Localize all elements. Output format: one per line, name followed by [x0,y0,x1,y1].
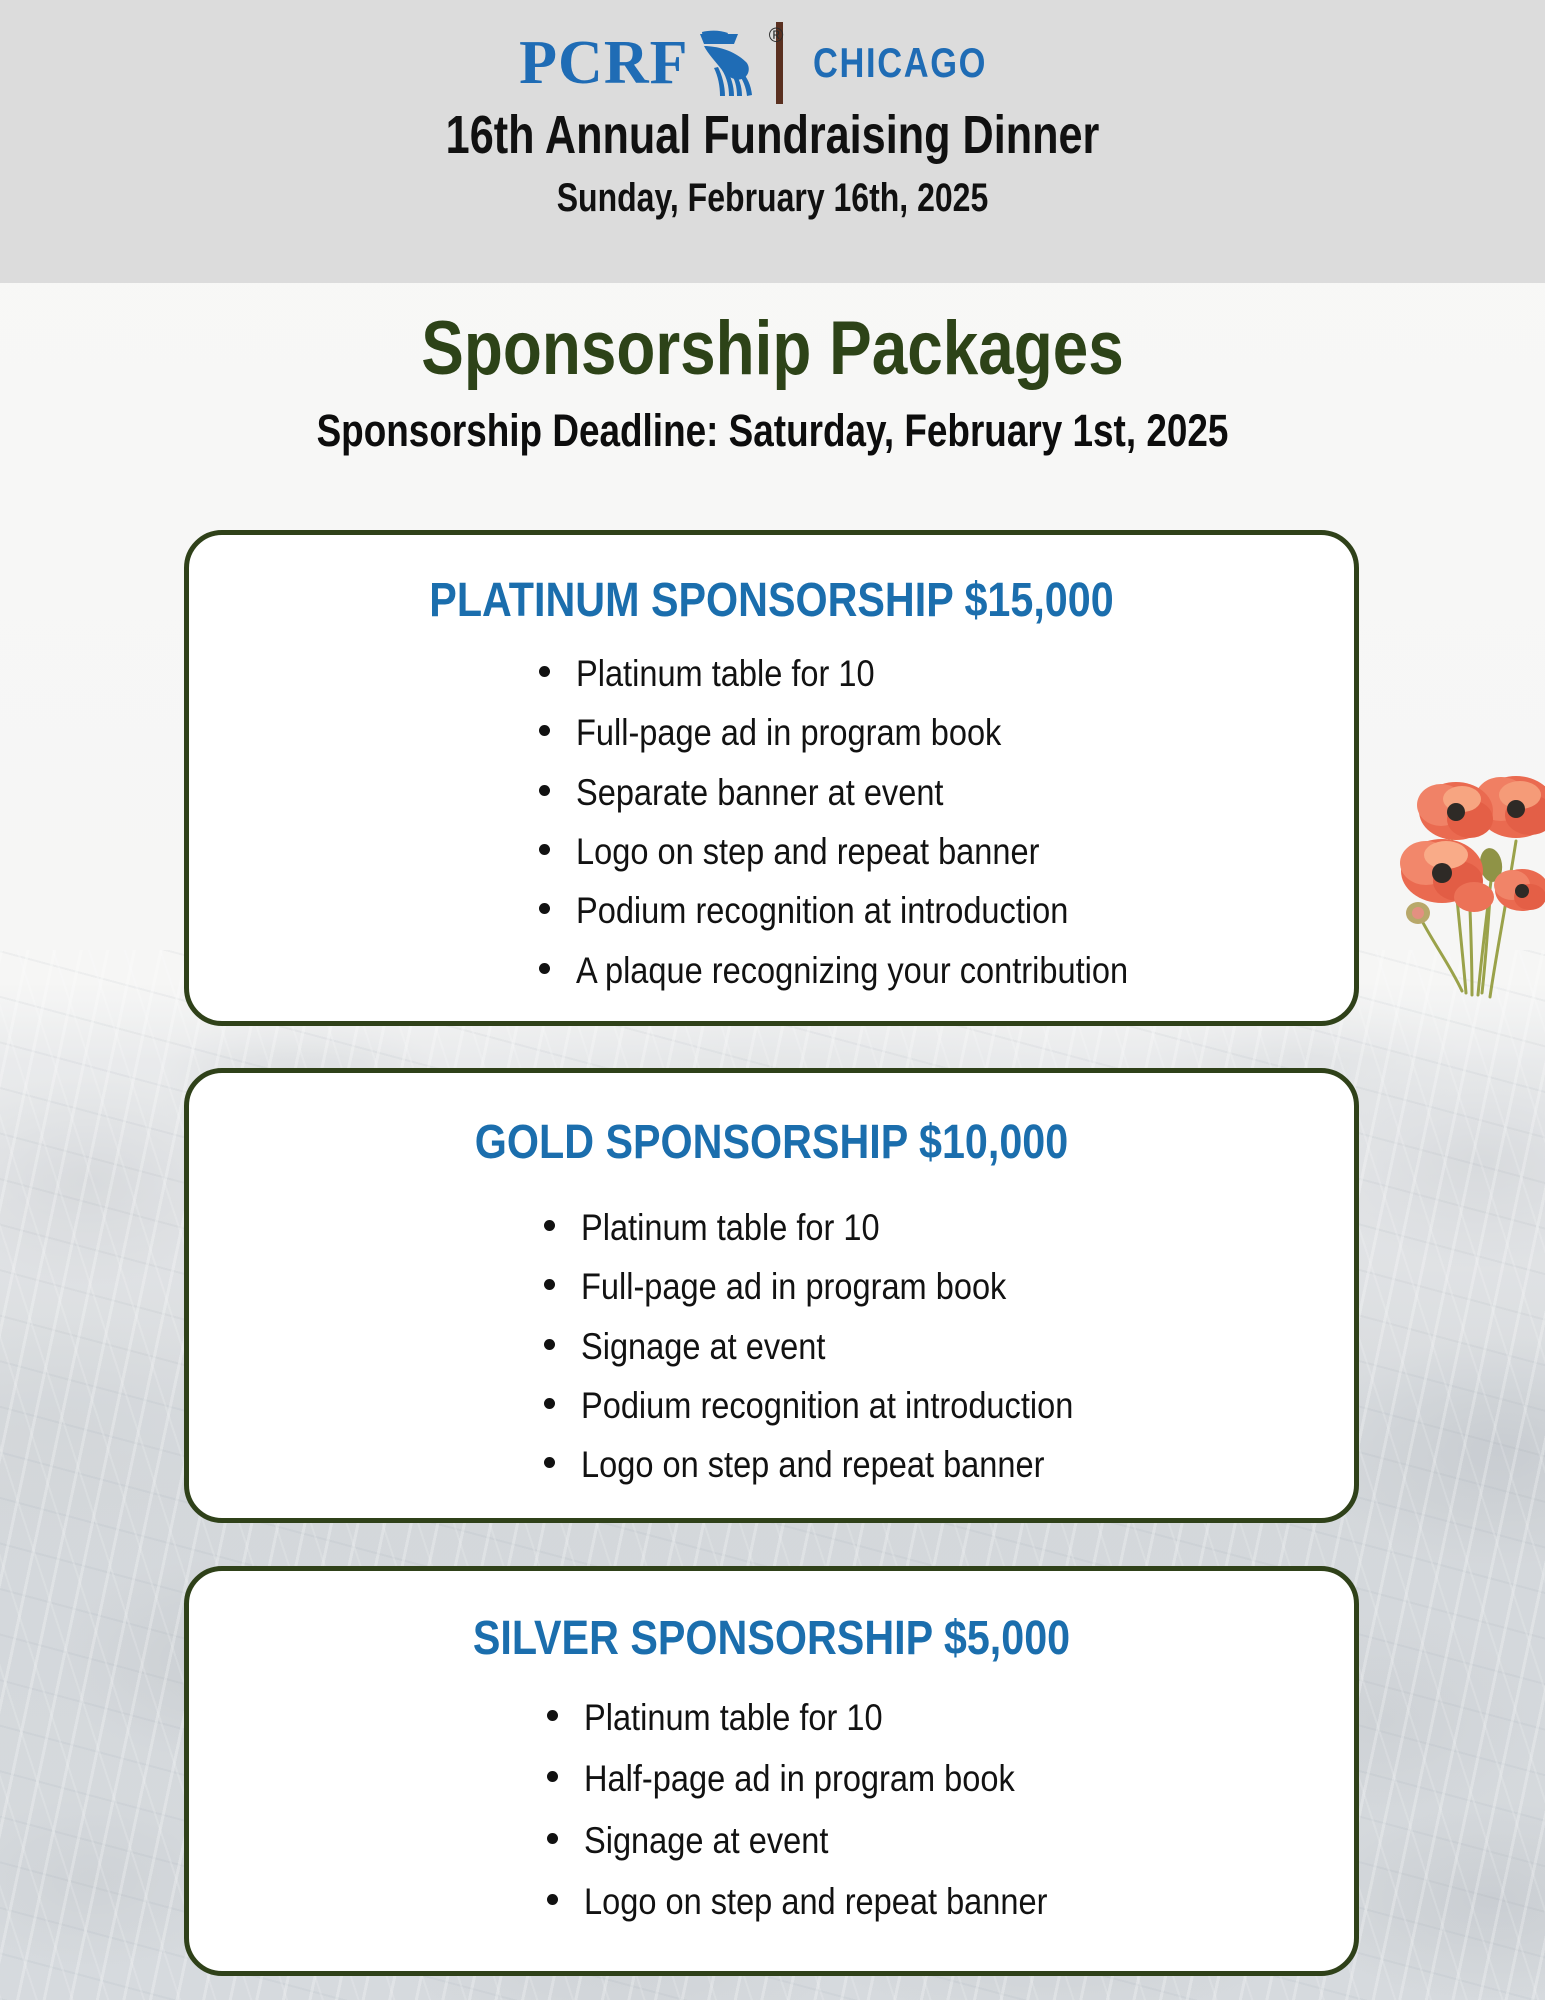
bullet-icon [547,1771,558,1782]
silver-benefits-list: Platinum table for 10 Half-page ad in pr… [189,1694,1354,1925]
bullet-icon [547,1894,558,1905]
list-item: Signage at event [547,1817,1354,1864]
list-item: Platinum table for 10 [544,1204,1354,1251]
platinum-sponsorship-card: PLATINUM SPONSORSHIP $15,000 Platinum ta… [184,530,1359,1026]
silver-card-heading: SILVER SPONSORSHIP $5,000 [271,1611,1273,1666]
bullet-icon [544,1457,555,1468]
list-item: A plaque recognizing your contribution [539,947,1354,994]
list-item: Signage at event [544,1323,1354,1370]
bullet-icon [539,666,550,677]
event-date: Sunday, February 16th, 2025 [155,176,1391,221]
benefit-text: Podium recognition at introduction [576,887,1068,934]
list-item: Half-page ad in program book [547,1755,1354,1802]
list-item: Logo on step and repeat banner [547,1878,1354,1925]
pcrf-hand-dove-icon [694,28,760,98]
benefit-text: Half-page ad in program book [584,1755,1015,1802]
benefit-text: Signage at event [584,1817,828,1864]
benefit-text: Platinum table for 10 [584,1694,883,1741]
bullet-icon [544,1339,555,1350]
sponsorship-poster: PCRF ® CHICAGO 16th Annual Fundraising D… [0,0,1545,2000]
benefit-text: Full-page ad in program book [581,1263,1006,1310]
platinum-benefits-list: Platinum table for 10 Full-page ad in pr… [189,650,1354,994]
header-band: PCRF ® CHICAGO 16th Annual Fundraising D… [0,0,1545,283]
benefit-text: A plaque recognizing your contribution [576,947,1128,994]
benefit-text: Podium recognition at introduction [581,1382,1073,1429]
list-item: Full-page ad in program book [544,1263,1354,1310]
registered-trademark-icon: ® [769,26,785,46]
gold-benefits-list: Platinum table for 10 Full-page ad in pr… [189,1204,1354,1489]
benefit-text: Logo on step and repeat banner [576,828,1039,875]
list-item: Logo on step and repeat banner [544,1441,1354,1488]
chicago-chapter-label: CHICAGO [813,39,987,87]
list-item: Platinum table for 10 [539,650,1354,697]
benefit-text: Platinum table for 10 [581,1204,880,1251]
bullet-icon [539,903,550,914]
pcrf-wordmark-text: PCRF [519,29,688,97]
list-item: Logo on step and repeat banner [539,828,1354,875]
benefit-text: Separate banner at event [576,769,943,816]
list-item: Full-page ad in program book [539,709,1354,756]
benefit-text: Platinum table for 10 [576,650,875,697]
gold-sponsorship-card: GOLD SPONSORSHIP $10,000 Platinum table … [184,1068,1359,1523]
silver-sponsorship-card: SILVER SPONSORSHIP $5,000 Platinum table… [184,1566,1359,1976]
event-title: 16th Annual Fundraising Dinner [155,104,1391,166]
bullet-icon [539,844,550,855]
benefit-text: Logo on step and repeat banner [581,1441,1044,1488]
bullet-icon [547,1833,558,1844]
platinum-card-heading: PLATINUM SPONSORSHIP $15,000 [271,573,1273,628]
benefit-text: Signage at event [581,1323,825,1370]
pcrf-chicago-logo: PCRF ® CHICAGO [0,22,1545,104]
benefit-text: Full-page ad in program book [576,709,1001,756]
pcrf-wordmark: PCRF ® [519,32,688,94]
bullet-icon [547,1710,558,1721]
list-item: Platinum table for 10 [547,1694,1354,1741]
benefit-text: Logo on step and repeat banner [584,1878,1047,1925]
list-item: Podium recognition at introduction [544,1382,1354,1429]
bullet-icon [544,1398,555,1409]
list-item: Separate banner at event [539,769,1354,816]
poppy-flowers-illustration [1370,745,1545,1005]
bullet-icon [544,1220,555,1231]
bullet-icon [539,785,550,796]
list-item: Podium recognition at introduction [539,887,1354,934]
gold-card-heading: GOLD SPONSORSHIP $10,000 [271,1115,1273,1170]
bullet-icon [539,725,550,736]
sponsorship-deadline: Sponsorship Deadline: Saturday, February… [139,405,1406,457]
bullet-icon [539,963,550,974]
page-title: Sponsorship Packages [124,305,1422,392]
bullet-icon [544,1279,555,1290]
